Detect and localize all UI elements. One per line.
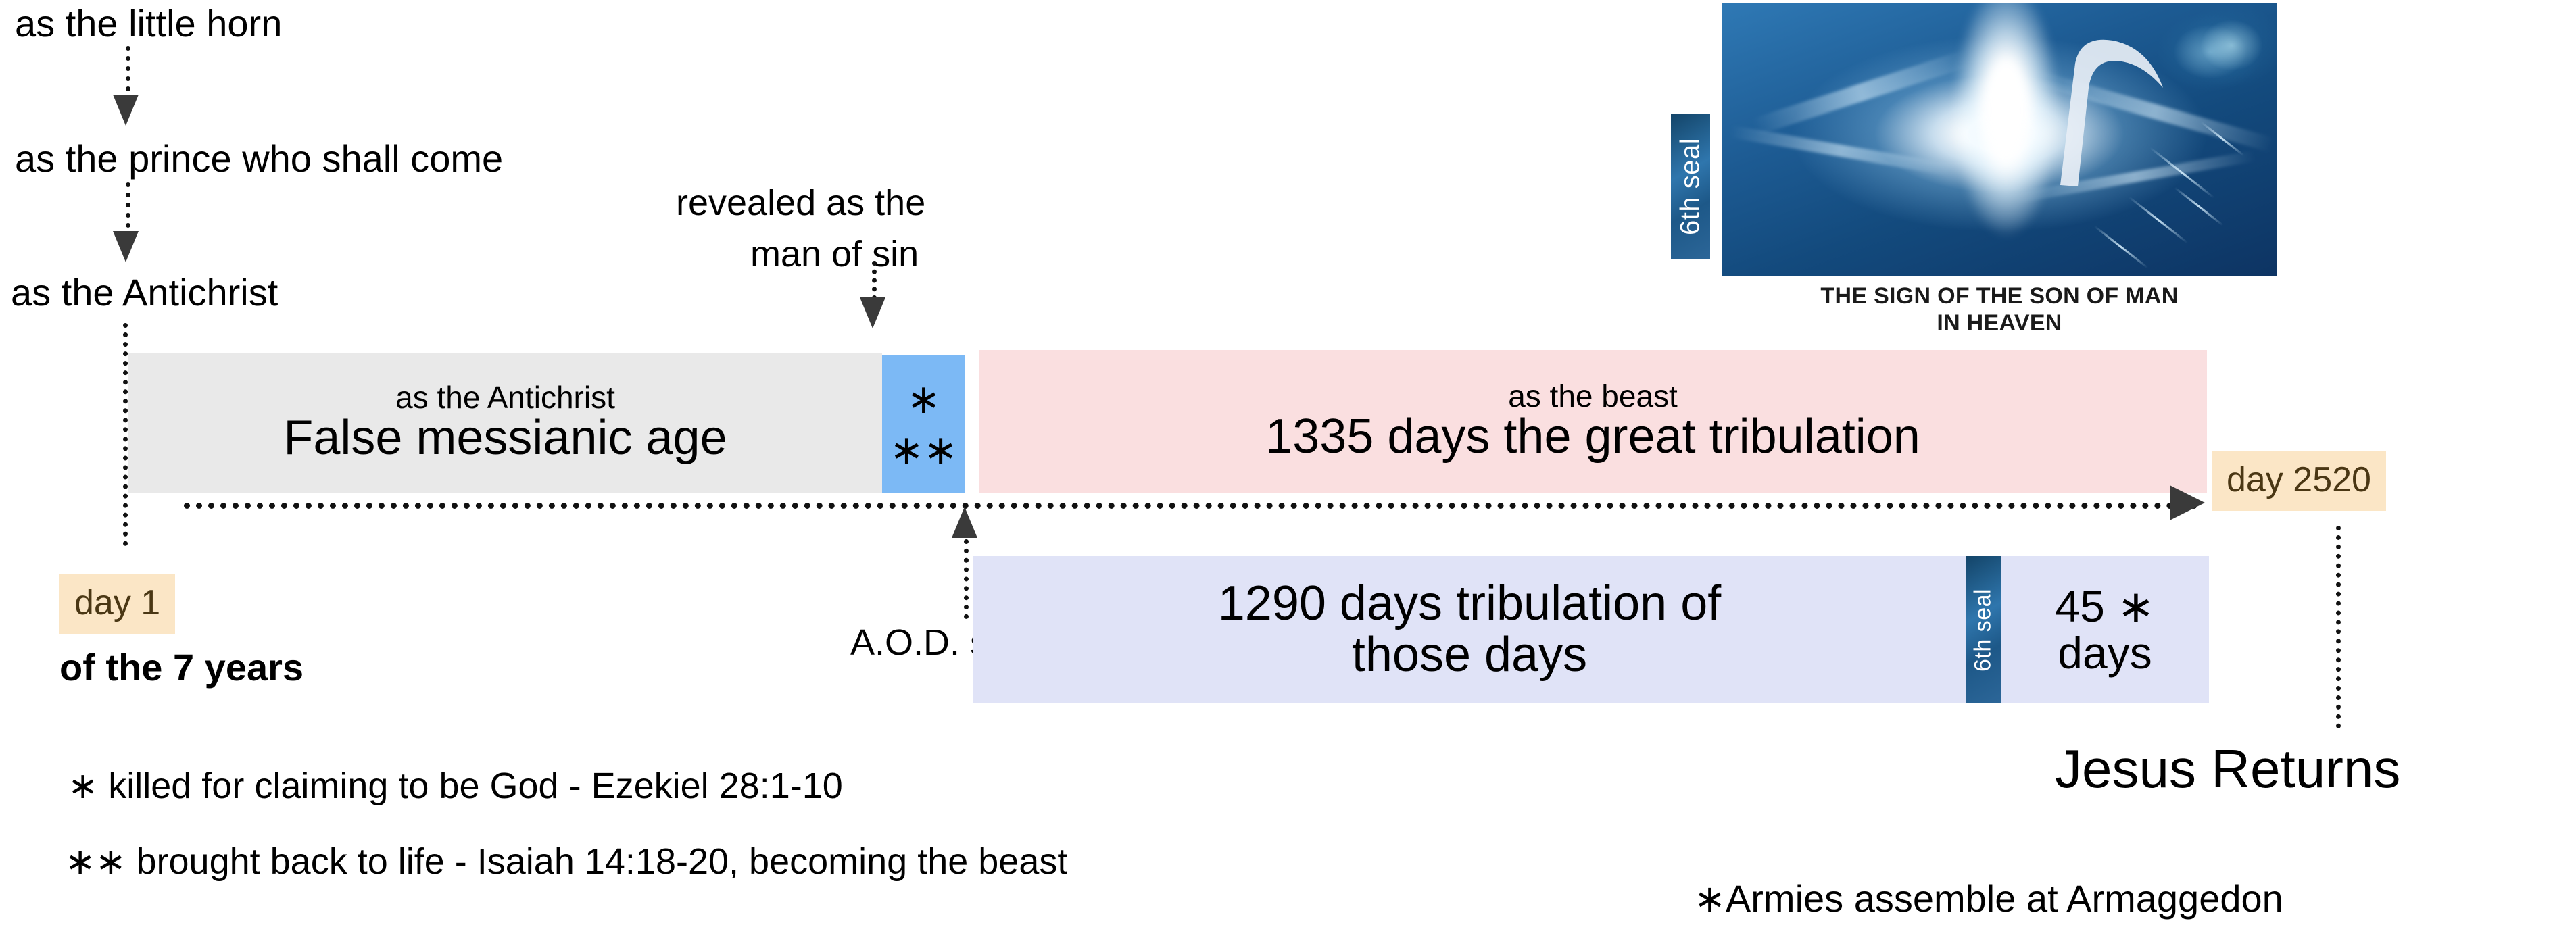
segment-45-days-line2: days (2058, 630, 2152, 676)
cascade-label-antichrist: as the Antichrist (11, 273, 278, 313)
segment-subtitle-beast: as the beast (1508, 380, 1678, 412)
cascade-connector-1 (126, 46, 130, 101)
cascade-label-little-horn: as the little horn (15, 4, 282, 44)
revealed-label-line1: revealed as the (676, 184, 925, 222)
hero-caption-line2: IN HEAVEN (1722, 309, 2277, 337)
cascade-label-prince: as the prince who shall come (15, 139, 503, 179)
segment-title-1290-days-line1: 1290 days tribulation of (1218, 578, 1722, 630)
cascade-arrow-1-icon (113, 95, 139, 126)
footnote-two-star: ∗∗ brought back to life - Isaiah 14:18-2… (65, 843, 1067, 880)
timeline-segment-1290-days[interactable]: 1290 days tribulation of those days (973, 556, 1966, 703)
lower-seal-tab: 6th seal (1966, 556, 2001, 703)
timeline-death-resurrection-cell[interactable]: ∗ ∗∗ (882, 355, 965, 493)
revealed-connector (872, 261, 877, 300)
marker-day-1-caption: of the 7 years (59, 649, 303, 687)
revealed-arrow-icon (860, 297, 885, 328)
day1-vertical-guide (123, 323, 128, 546)
marker-day-1[interactable]: day 1 (59, 574, 175, 634)
timeline-dotted-axis (184, 503, 2198, 509)
marker-jesus-returns: Jesus Returns (2055, 742, 2400, 796)
hero-galaxy (2168, 3, 2277, 97)
jesus-returns-vertical-guide (2336, 526, 2341, 728)
revealed-label-line2: man of sin (750, 235, 919, 274)
marker-day-2520[interactable]: day 2520 (2212, 451, 2386, 511)
timeline-segment-45-days[interactable]: 45 ∗ days (2001, 556, 2209, 703)
hero-caption-line1: THE SIGN OF THE SON OF MAN (1722, 282, 2277, 309)
timeline-axis-arrow-icon (2170, 485, 2205, 520)
sign-of-son-of-man-image (1722, 3, 2277, 276)
aod-vertical-guide (964, 539, 969, 619)
segment-45-days-line1: 45 ∗ (2055, 583, 2154, 630)
aod-arrow-icon (952, 507, 977, 538)
cascade-connector-2 (126, 182, 130, 238)
hero-seal-tab-label: 6th seal (1676, 138, 1706, 235)
segment-title-false-messianic-age: False messianic age (283, 413, 727, 464)
hero-caption: THE SIGN OF THE SON OF MAN IN HEAVEN (1722, 282, 2277, 337)
segment-title-1335-days: 1335 days the great tribulation (1265, 412, 1920, 463)
footnote-armies-armaggedon: ∗Armies assemble at Armaggedon (1694, 880, 2283, 918)
footnote-one-star: ∗ killed for claiming to be God - Ezekie… (68, 768, 843, 804)
cascade-arrow-2-icon (113, 231, 139, 262)
lower-seal-tab-label: 6th seal (1970, 588, 1997, 671)
death-star-marker: ∗ (906, 374, 940, 424)
timeline-segment-false-messianic-age[interactable]: as the Antichrist False messianic age (128, 353, 882, 493)
resurrection-star-marker: ∗∗ (890, 424, 958, 475)
hero-seal-tab: 6th seal (1671, 114, 1710, 259)
timeline-segment-great-tribulation[interactable]: as the beast 1335 days the great tribula… (979, 350, 2207, 493)
segment-title-1290-days-line2: those days (1352, 630, 1587, 681)
segment-subtitle-antichrist: as the Antichrist (395, 382, 615, 413)
